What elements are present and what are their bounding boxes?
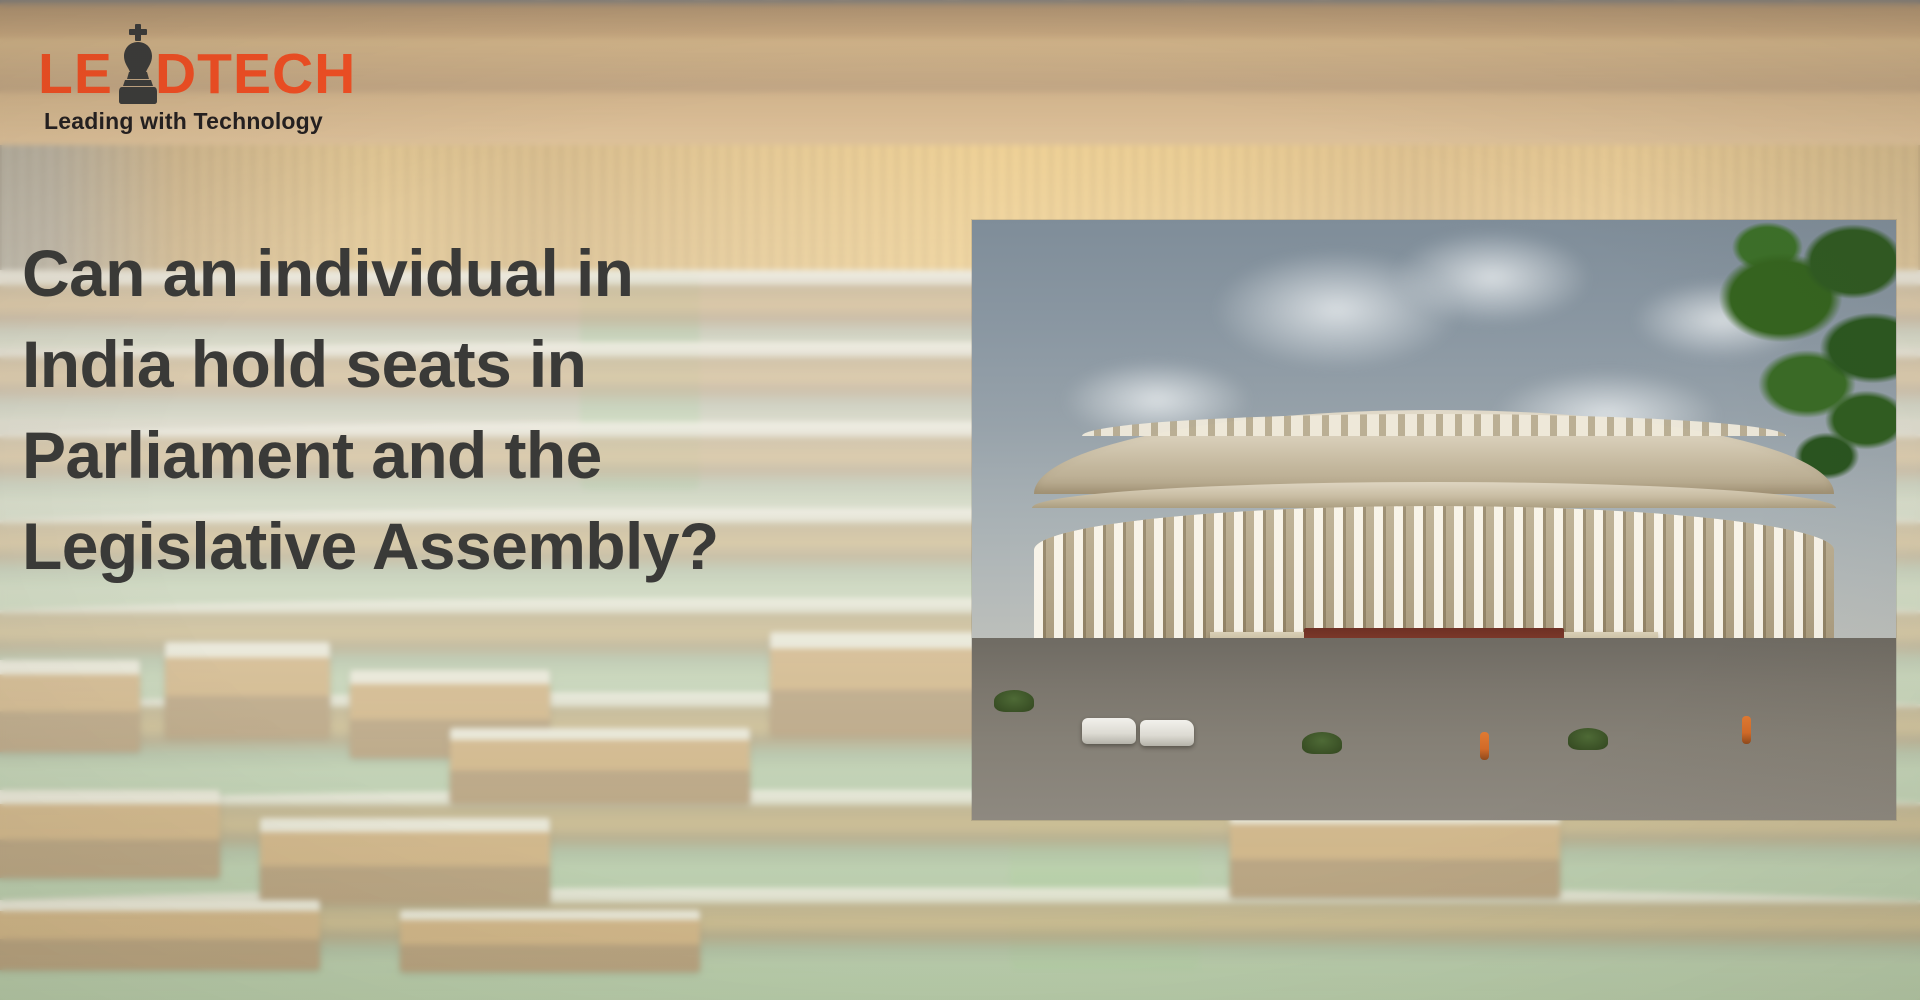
blog-banner: LEADTECH Leading with Technology Can an … bbox=[0, 0, 1920, 1000]
logo-tagline: Leading with Technology bbox=[44, 108, 338, 135]
headline-line-1: Can an individual in bbox=[22, 228, 1032, 319]
brand-logo[interactable]: LEADTECH Leading with Technology bbox=[38, 18, 338, 123]
inset-photo-sansad-bhavan bbox=[972, 220, 1896, 820]
logo-text-before: LE bbox=[38, 42, 113, 106]
shrub bbox=[1302, 732, 1342, 754]
headline-line-4: Legislative Assembly? bbox=[22, 501, 1032, 592]
chess-king-icon bbox=[110, 22, 166, 106]
shrub bbox=[994, 690, 1034, 712]
page-title: Can an individual in India hold seats in… bbox=[22, 228, 1032, 592]
logo-text-after: DTECH bbox=[155, 42, 356, 106]
pedestrian bbox=[1480, 732, 1489, 760]
parked-car bbox=[1082, 718, 1136, 744]
building-parapet bbox=[1082, 414, 1786, 436]
parked-car bbox=[1140, 720, 1194, 746]
headline-line-2: India hold seats in bbox=[22, 319, 1032, 410]
cloud bbox=[1392, 230, 1592, 325]
shrub bbox=[1568, 728, 1608, 750]
logo-wordmark: LEADTECH bbox=[38, 18, 338, 103]
pedestrian bbox=[1742, 716, 1751, 744]
headline-line-3: Parliament and the bbox=[22, 410, 1032, 501]
